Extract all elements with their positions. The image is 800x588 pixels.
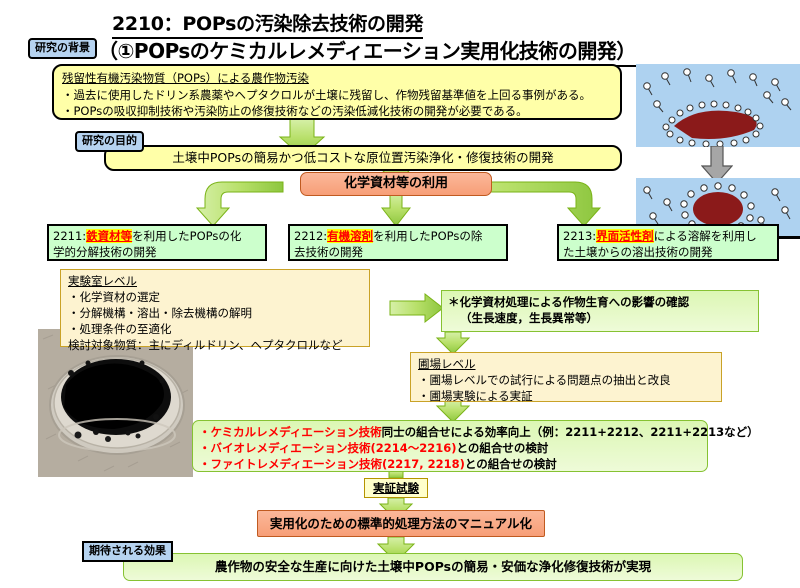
- tag-research-purpose: 研究の目的: [75, 131, 144, 152]
- combination-line-3-black: との組合せの検討: [465, 457, 557, 471]
- crop-growth-check-box: ＊化学資材処理による作物生育への影響の確認 （生長速度，生長異常等）: [441, 290, 759, 332]
- subtheme-2212-code: 2212:: [294, 229, 327, 243]
- lab-level-heading: 実験室レベル: [68, 273, 362, 289]
- expected-outcome-box: 農作物の安全な生産に向けた土壌中POPsの簡易・安価な浄化修復技術が実現: [123, 553, 743, 581]
- diagram-canvas: 2210：POPsの汚染除去技術の開発 （①POPsのケミカルレメディエーション…: [0, 0, 800, 588]
- field-level-item-2: ・圃場実験による実証: [418, 388, 714, 404]
- combination-line-3-red: ・ファイトレメディエーション技術(2217, 2218): [199, 457, 465, 471]
- manualization-label: 実用化のための標準的処理方法のマニュアル化: [270, 514, 532, 534]
- subtheme-box-2211: 2211:鉄資材等を利用したPOPsの化 学的分解技術の開発: [47, 224, 267, 261]
- crop-check-line-1: ＊化学資材処理による作物生育への影響の確認: [448, 294, 752, 310]
- field-level-heading: 圃場レベル: [418, 356, 714, 372]
- background-heading: 残留性有機汚染物質（POPs）による農作物汚染: [62, 70, 612, 87]
- subtheme-2213-code: 2213:: [563, 229, 596, 243]
- subtheme-box-2212: 2212:有機溶剤を利用したPOPsの除 去技術の開発: [288, 224, 508, 261]
- lab-level-item-2: ・分解機構・溶出・除去機構の解明: [68, 305, 362, 321]
- background-callout-box: 残留性有機汚染物質（POPs）による農作物汚染 ・過去に使用したドリン系農薬やヘ…: [52, 64, 622, 120]
- lab-level-item-1: ・化学資材の選定: [68, 289, 362, 305]
- tag-expected-effect: 期待される効果: [82, 541, 173, 562]
- lab-level-item-4: 検討対象物質：主にディルドリン、ヘプタクロルなど: [68, 337, 362, 353]
- subtheme-2211-rest-1: を利用したPOPsの化: [132, 229, 241, 243]
- subtheme-box-2213: 2213:界面活性剤による溶解を利用し た土壌からの溶出技術の開発: [557, 224, 779, 261]
- manualization-box: 実用化のための標準的処理方法のマニュアル化: [257, 510, 545, 537]
- combination-line-2-black: との組合せの検討: [457, 441, 549, 455]
- combination-line-1-red: ・ケミカルレメディエーション技術: [199, 425, 382, 439]
- combination-line-1-black: 同士の組合せによる効率向上（例：2211+2212、2211+2213など）: [382, 425, 759, 439]
- chemical-material-use-box: 化学資材等の利用: [300, 172, 492, 196]
- page-subtitle: （①POPsのケミカルレメディエーション実用化技術の開発）: [98, 35, 636, 67]
- field-level-box: 圃場レベル ・圃場レベルでの試行による問題点の抽出と改良 ・圃場実験による実証: [410, 352, 722, 402]
- subtheme-2211-rest-2: 学的分解技術の開発: [53, 244, 261, 260]
- subtheme-2212-highlight: 有機溶剤: [327, 229, 373, 243]
- combination-strategy-box: ・ケミカルレメディエーション技術同士の組合せによる効率向上（例：2211+221…: [192, 420, 708, 472]
- verification-test-box: 実証試験: [364, 478, 428, 498]
- crop-check-line-2: （生長速度，生長異常等）: [448, 310, 752, 326]
- purpose-box: 土壌中POPsの簡易かつ低コストな原位置汚染浄化・修復技術の開発: [104, 145, 622, 171]
- combination-line-2-red: ・バイオレメディエーション技術(2214～2216): [199, 441, 457, 455]
- subtheme-2211-highlight: 鉄資材等: [86, 229, 132, 243]
- purpose-text: 土壌中POPsの簡易かつ低コストな原位置汚染浄化・修復技術の開発: [172, 150, 553, 167]
- expected-outcome-label: 農作物の安全な生産に向けた土壌中POPsの簡易・安価な浄化修復技術が実現: [215, 559, 651, 575]
- verification-test-label: 実証試験: [373, 480, 419, 496]
- tag-research-background: 研究の背景: [28, 38, 97, 59]
- field-level-item-1: ・圃場レベルでの試行による問題点の抽出と改良: [418, 372, 714, 388]
- subtheme-2212-rest-1: を利用したPOPsの除: [373, 229, 482, 243]
- background-line-1: ・過去に使用したドリン系農薬やヘプタクロルが土壌に残留し、作物残留基準値を上回る…: [62, 87, 612, 104]
- subtheme-2213-highlight: 界面活性剤: [596, 229, 654, 243]
- subtheme-2213-rest-2: た土壌からの溶出技術の開発: [563, 244, 773, 260]
- subtheme-2212-rest-2: 去技術の開発: [294, 244, 502, 260]
- background-line-2: ・POPsの吸収抑制技術や汚染防止の修復技術などの汚染低減化技術の開発が必要であ…: [62, 103, 612, 120]
- subtheme-2213-rest-1: による溶解を利用し: [654, 229, 757, 243]
- subtheme-2211-code: 2211:: [53, 229, 86, 243]
- chemical-material-use-label: 化学資材等の利用: [344, 174, 448, 194]
- lab-level-box: 実験室レベル ・化学資材の選定 ・分解機構・溶出・除去機構の解明 ・処理条件の至…: [60, 269, 370, 347]
- lab-level-item-3: ・処理条件の至適化: [68, 321, 362, 337]
- micelle-illustration-top: [636, 64, 800, 147]
